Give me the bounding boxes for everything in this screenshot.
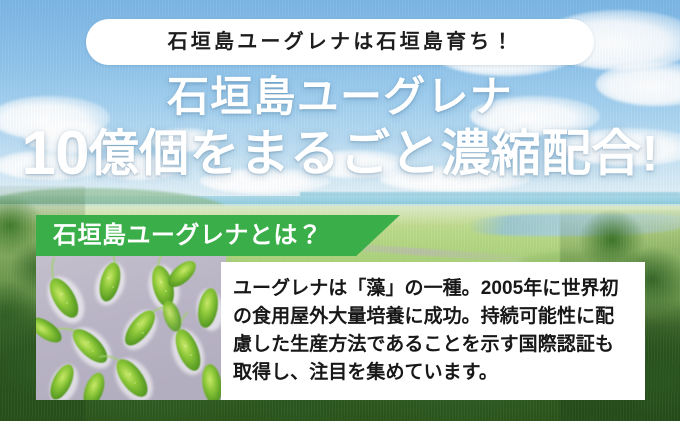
promo-banner: 石垣島ユーグレナは石垣島育ち！ 石垣島ユーグレナ 10億個をまるごと濃縮配合! … bbox=[0, 0, 680, 421]
section-ribbon-title: 石垣島ユーグレナとは？ bbox=[36, 224, 322, 248]
euglena-cells-illustration bbox=[36, 256, 226, 400]
headline-block: 石垣島ユーグレナ 10億個をまるごと濃縮配合! bbox=[0, 74, 680, 185]
euglena-microscope-photo bbox=[36, 256, 226, 400]
description-panel: ユーグレナは「藻」の一種。2005年に世界初の食用屋外大量培養に成功。持続可能性… bbox=[221, 262, 645, 400]
tagline-badge-text: 石垣島ユーグレナは石垣島育ち！ bbox=[164, 32, 515, 52]
headline-line-2: 10億個をまるごと濃縮配合! bbox=[0, 123, 680, 185]
headline-line-1: 石垣島ユーグレナ bbox=[0, 74, 680, 119]
headline-amount: 10 bbox=[21, 119, 88, 188]
section-ribbon: 石垣島ユーグレナとは？ bbox=[36, 215, 400, 256]
tagline-badge: 石垣島ユーグレナは石垣島育ち！ bbox=[86, 19, 594, 65]
description-text: ユーグレナは「藻」の一種。2005年に世界初の食用屋外大量培養に成功。持続可能性… bbox=[221, 275, 645, 387]
headline-line-2-text: 億個をまるごと濃縮配合! bbox=[89, 126, 659, 182]
